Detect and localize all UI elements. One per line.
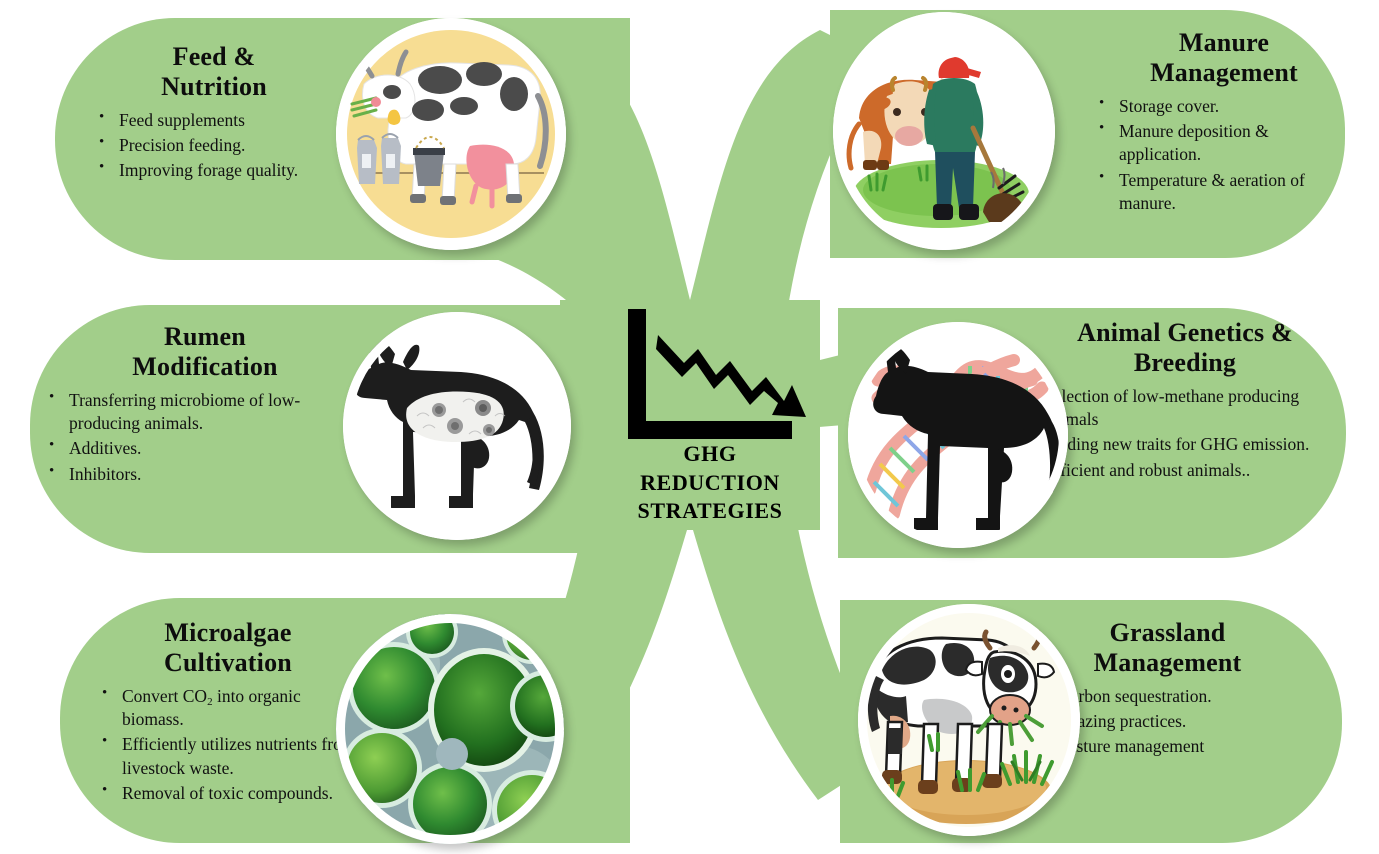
panel-rumen-modification-text: Rumen Modification Transferring microbio… bbox=[45, 322, 365, 488]
image-microalgae-cells bbox=[336, 614, 564, 844]
panel-bullets-rumen-modification: Transferring microbiome of low-producing… bbox=[45, 389, 365, 488]
panel-feed-nutrition-text: Feed & Nutrition Feed supplements Precis… bbox=[95, 42, 333, 185]
panel-title-feed-nutrition: Feed & Nutrition bbox=[95, 42, 333, 103]
list-item: Additives. bbox=[45, 437, 365, 460]
panel-title-rumen-modification: Rumen Modification bbox=[45, 322, 365, 383]
list-item: Inhibitors. bbox=[45, 463, 365, 486]
image-farmer-with-cow bbox=[833, 12, 1055, 250]
declining-chart-arrow-icon bbox=[612, 305, 812, 445]
list-item: Transferring microbiome of low-producing… bbox=[45, 389, 365, 436]
list-item: Precision feeding. bbox=[95, 134, 333, 157]
panel-animal-genetics-breeding-text: Animal Genetics & Breeding Selection of … bbox=[1020, 318, 1350, 484]
panel-bullets-manure-management: Storage cover. Manure deposition & appli… bbox=[1095, 95, 1353, 217]
panel-title-microalgae-cultivation: Microalgae Cultivation bbox=[98, 618, 358, 679]
list-item: Removal of toxic compounds. bbox=[98, 782, 358, 805]
center-title-line-1: GHG bbox=[620, 440, 800, 469]
image-cow-rumen-microbiome bbox=[343, 312, 571, 540]
panel-bullets-animal-genetics-breeding: Selection of low-methane producing anima… bbox=[1020, 385, 1350, 484]
list-item: Finding new traits for GHG emission. bbox=[1020, 433, 1350, 456]
list-item: Selection of low-methane producing anima… bbox=[1020, 385, 1350, 432]
list-item: Temperature & aeration of manure. bbox=[1095, 169, 1353, 216]
list-item: Efficiently utilizes nutrients from live… bbox=[98, 733, 358, 780]
center-title: GHG REDUCTION STRATEGIES bbox=[620, 440, 800, 526]
list-item: Storage cover. bbox=[1095, 95, 1353, 118]
list-item: Efficient and robust animals.. bbox=[1020, 459, 1350, 482]
panel-microalgae-cultivation-text: Microalgae Cultivation Convert CO2 into … bbox=[98, 618, 358, 807]
list-item: Manure deposition & application. bbox=[1095, 120, 1353, 167]
panel-manure-management-text: Manure Management Storage cover. Manure … bbox=[1095, 28, 1353, 217]
panel-title-animal-genetics-breeding: Animal Genetics & Breeding bbox=[1020, 318, 1350, 379]
panel-bullets-feed-nutrition: Feed supplements Precision feeding. Impr… bbox=[95, 109, 333, 185]
image-dairy-cow-milk-cans bbox=[336, 18, 566, 250]
infographic-canvas: Feed & Nutrition Feed supplements Precis… bbox=[0, 0, 1379, 854]
list-item: Feed supplements bbox=[95, 109, 333, 132]
image-grazing-cow-pasture bbox=[858, 604, 1080, 836]
panel-bullets-microalgae-cultivation: Convert CO2 into organic biomass. Effici… bbox=[98, 685, 358, 807]
panel-title-manure-management: Manure Management bbox=[1095, 28, 1353, 89]
image-cow-dna-helix bbox=[848, 322, 1068, 548]
center-title-line-2: REDUCTION bbox=[620, 469, 800, 498]
list-item: Improving forage quality. bbox=[95, 159, 333, 182]
list-item: Convert CO2 into organic biomass. bbox=[98, 685, 358, 732]
center-title-line-3: STRATEGIES bbox=[620, 497, 800, 526]
